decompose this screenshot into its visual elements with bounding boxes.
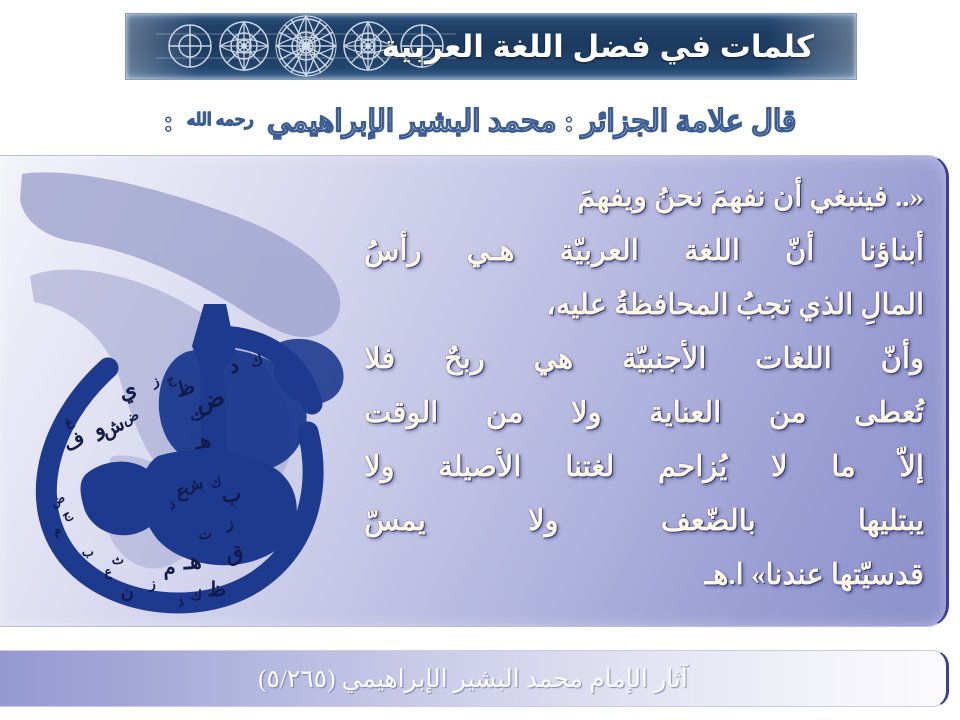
svg-text:ض: ض (120, 408, 142, 429)
quote-line: وأنّ اللغات الأجنبيّة هي ربحٌ فلا (364, 332, 924, 386)
attribution-suffix: : (164, 105, 174, 138)
attribution-prefix: قال علامة الجزائر : محمد البشير الإبراهي… (267, 105, 796, 138)
svg-text:غ: غ (62, 413, 77, 431)
quote-line: المالِ الذي تجبُ المحافظةُ عليه، (364, 278, 924, 332)
attribution-row: قال علامة الجزائر : محمد البشير الإبراهي… (0, 92, 960, 150)
svg-text:ض: ض (48, 490, 68, 510)
svg-text:ق: ق (226, 540, 245, 567)
quote-line: «.. فينبغي أن نفهمَ نحنُ ويفهمَ (364, 170, 924, 224)
arabic-calligraphy-vase-icon: د ك ض ظ ث هـ ي ز ج ض و ش ف غ ع ش ك ذ ب ز… (0, 156, 410, 626)
svg-text:ظ: ظ (174, 376, 198, 402)
attribution-line: قال علامة الجزائر : محمد البشير الإبراهي… (164, 104, 797, 139)
svg-text:ف: ف (60, 427, 89, 456)
svg-text:ظ: ظ (208, 579, 227, 601)
svg-text:ك: ك (249, 352, 265, 371)
svg-text:م: م (49, 522, 64, 540)
svg-text:ش: ش (98, 414, 128, 443)
svg-text:م: م (162, 557, 176, 581)
citation-text: آثار الإمام محمد البشير الإبراهيمي (٥/٢٦… (258, 664, 688, 694)
svg-text:ذ: ذ (178, 594, 184, 609)
svg-text:ب: ب (220, 481, 243, 508)
quote-line: أبناؤنا أنّ اللغة العربيّة هـي رأسُ (364, 224, 924, 278)
svg-text:ض: ض (193, 385, 228, 418)
header-band: كلمات في فضل اللغة العربية (0, 0, 960, 95)
svg-text:ع: ع (104, 564, 112, 580)
svg-text:ش: ش (183, 475, 205, 496)
honorific-text: رحمه الله (187, 110, 254, 129)
header-banner: كلمات في فضل اللغة العربية (125, 13, 857, 80)
svg-text:ن: ن (121, 582, 134, 602)
svg-text:و: و (87, 415, 109, 443)
svg-text:ع: ع (175, 480, 189, 503)
quote-line: قدسيّتها عندنا» ا.هـ (364, 548, 924, 602)
svg-text:ث: ث (188, 405, 207, 425)
svg-text:ج: ج (59, 505, 75, 523)
quote-line: تُعطى من العناية ولا من الوقت (364, 386, 924, 440)
svg-text:ز: ز (149, 374, 162, 391)
svg-text:هـ: هـ (191, 429, 213, 454)
svg-text:ز: ز (225, 516, 235, 533)
svg-text:ب: ب (82, 544, 94, 559)
citation-bar: آثار الإمام محمد البشير الإبراهيمي (٥/٢٦… (0, 650, 949, 707)
quote-panel: د ك ض ظ ث هـ ي ز ج ض و ش ف غ ع ش ك ذ ب ز… (0, 155, 949, 627)
svg-text:ز: ز (147, 577, 156, 593)
svg-text:ذ: ذ (168, 496, 177, 512)
svg-text:ك: ك (190, 589, 202, 604)
svg-text:د: د (226, 353, 242, 379)
svg-text:ث: ث (112, 552, 124, 567)
svg-text:ت: ت (198, 527, 213, 543)
svg-text:ي: ي (115, 375, 141, 406)
svg-text:هـ: هـ (182, 548, 203, 574)
quote-line: يبتليها بالضّعف ولا يمسّ (364, 494, 924, 548)
header-title: كلمات في فضل اللغة العربية (382, 29, 814, 65)
quote-text-block: «.. فينبغي أن نفهمَ نحنُ ويفهمَ أبناؤنا … (364, 170, 924, 602)
quote-line: إلاّ ما لا يُزاحم لغتنا الأصيلة ولا (364, 440, 924, 494)
svg-text:ك: ك (209, 474, 222, 491)
svg-text:ج: ج (164, 371, 178, 389)
